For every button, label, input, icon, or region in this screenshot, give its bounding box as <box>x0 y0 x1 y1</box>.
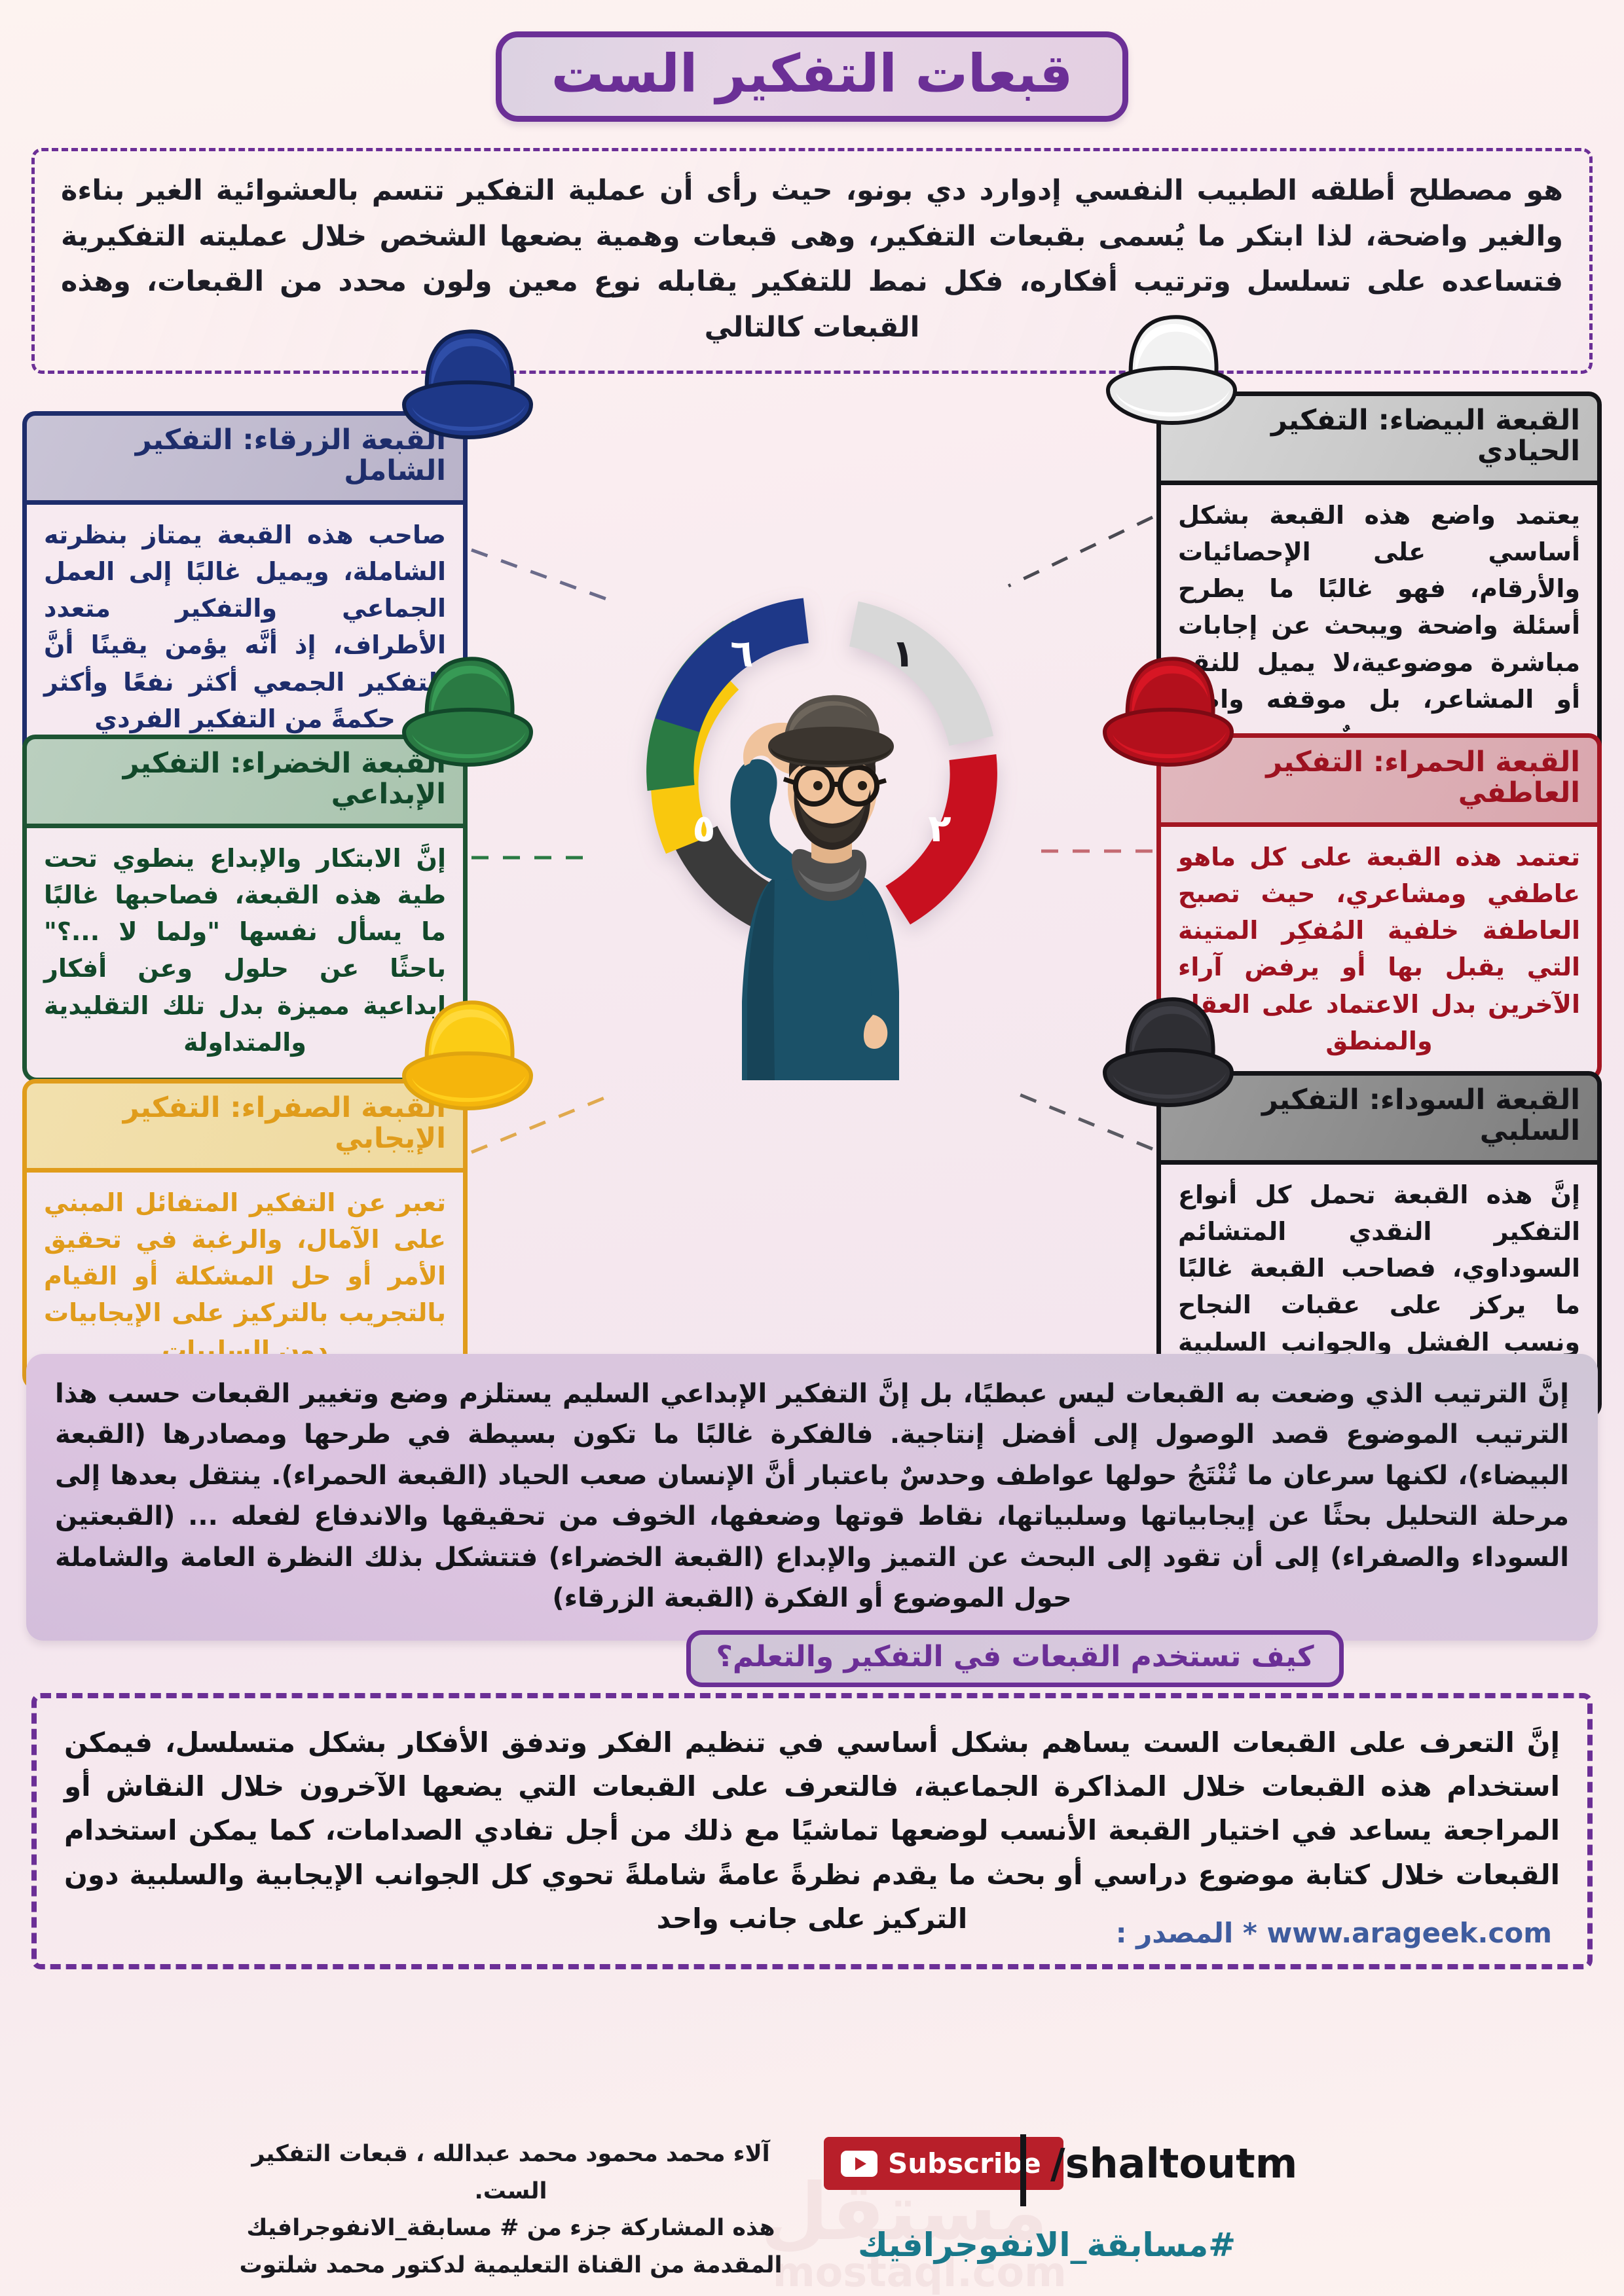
hat-card-yellow-text: تعبر عن التفكير المتفائل المبني على الآم… <box>44 1184 446 1368</box>
page-title: قبعات التفكير الست <box>496 31 1129 122</box>
credit-line-2: هذه المشاركة جزء من # مسابقة_الانفوجرافي… <box>216 2210 805 2247</box>
question-badge-label: كيف تستخدم القبعات في التفكير والتعلم؟ <box>716 1640 1314 1673</box>
source-line: www.arageek.com * المصدر : <box>1116 1917 1552 1949</box>
green-hat-icon <box>383 655 540 779</box>
footer: مستقل mostaql.com آلاء محمد محمود محمد ع… <box>0 2128 1624 2296</box>
red-hat-icon <box>1084 655 1241 779</box>
yellow-hat-icon <box>383 998 540 1123</box>
question-badge: كيف تستخدم القبعات في التفكير والتعلم؟ <box>686 1630 1343 1687</box>
footer-credits: آلاء محمد محمود محمد عبدالله ، قبعات الت… <box>216 2136 805 2284</box>
hat-card-yellow: القبعة الصفراء: التفكير الإيجابي تعبر عن… <box>22 1079 468 1390</box>
footer-hashtag[interactable]: #مسابقة_الانفوجرافيك <box>858 2226 1236 2264</box>
summary-text: إنَّ الترتيب الذي وضعت به القبعات ليس عب… <box>55 1374 1569 1618</box>
channel-handle[interactable]: /shaltoutm <box>1050 2140 1297 2187</box>
subscribe-button[interactable]: Subscribe <box>824 2137 1063 2190</box>
intro-box: هو مصطلح أطلقه الطبيب النفسي إدوارد دي ب… <box>31 148 1593 374</box>
page-title-wrap: قبعات التفكير الست <box>0 31 1624 122</box>
intro-text: هو مصطلح أطلقه الطبيب النفسي إدوارد دي ب… <box>61 168 1563 351</box>
summary-box: إنَّ الترتيب الذي وضعت به القبعات ليس عب… <box>26 1354 1598 1641</box>
source-prefix: * المصدر : <box>1116 1917 1257 1949</box>
blue-hat-icon <box>383 327 540 452</box>
subscribe-button-label: Subscribe <box>888 2147 1041 2179</box>
credit-line-3: المقدمة من القناة التعليمية لدكتور محمد … <box>216 2247 805 2284</box>
source-url[interactable]: www.arageek.com <box>1266 1917 1552 1949</box>
white-hat-icon <box>1087 313 1244 437</box>
infographic-page: قبعات التفكير الست هو مصطلح أطلقه الطبيب… <box>0 0 1624 2296</box>
howto-text: إنَّ التعرف على القبعات الست يساهم بشكل … <box>64 1721 1560 1941</box>
black-hat-icon <box>1084 995 1241 1120</box>
youtube-play-icon <box>841 2151 877 2177</box>
youtube-subscribe-wrap[interactable]: Subscribe <box>824 2137 1063 2190</box>
footer-divider <box>1020 2134 1026 2206</box>
credit-line-1: آلاء محمد محمود محمد عبدالله ، قبعات الت… <box>216 2136 805 2210</box>
page-title-text: قبعات التفكير الست <box>551 43 1073 104</box>
question-badge-wrap: كيف تستخدم القبعات في التفكير والتعلم؟ <box>0 1630 1624 1687</box>
